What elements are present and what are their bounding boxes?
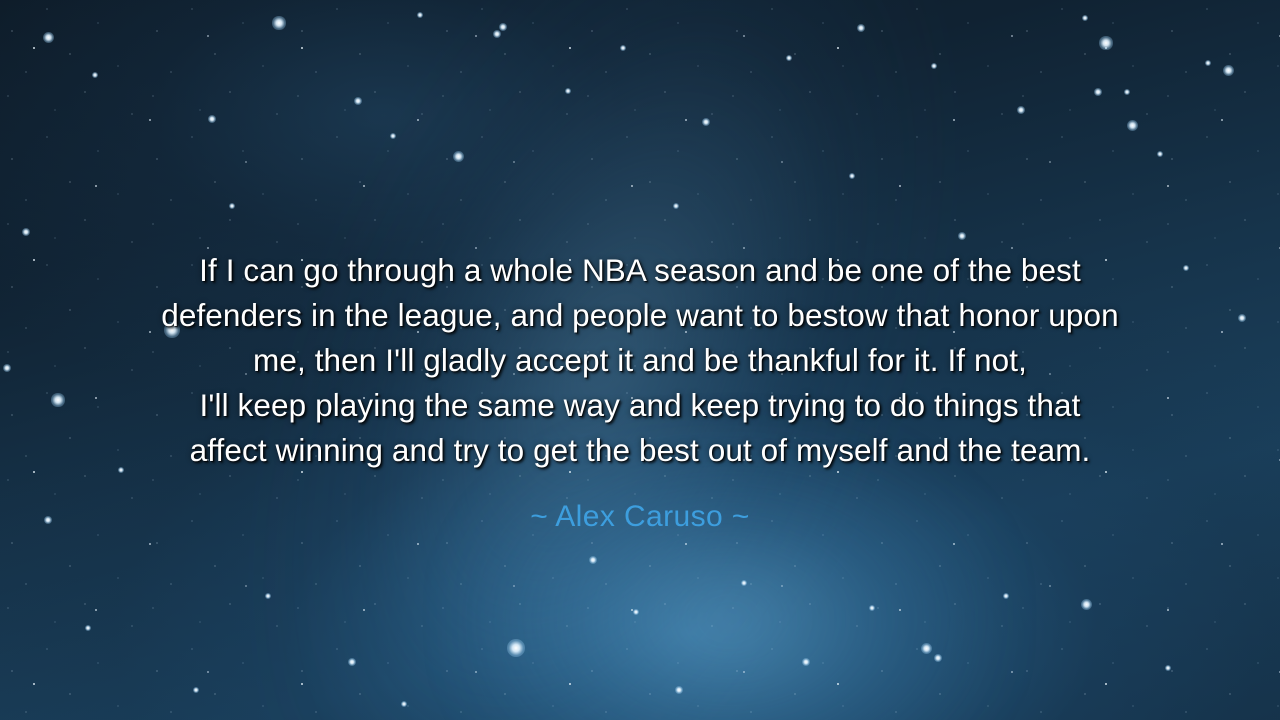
quote-attribution: ~ Alex Caruso ~ [0, 498, 1280, 536]
quote-line: me, then I'll gladly accept it and be th… [40, 338, 1240, 383]
quote-line: affect winning and try to get the best o… [40, 428, 1240, 473]
quote-graphic: If I can go through a whole NBA season a… [0, 0, 1280, 720]
quote-text-block: If I can go through a whole NBA season a… [0, 248, 1280, 473]
quote-line: If I can go through a whole NBA season a… [40, 248, 1240, 293]
quote-line: I'll keep playing the same way and keep … [40, 383, 1240, 428]
quote-line: defenders in the league, and people want… [40, 293, 1240, 338]
